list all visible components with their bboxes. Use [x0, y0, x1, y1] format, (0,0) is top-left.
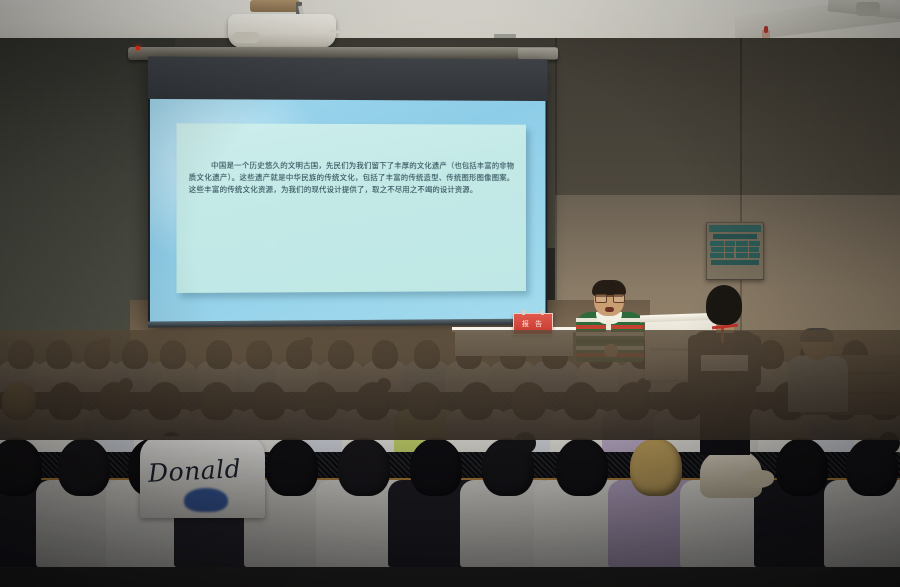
- projection-screen: 中国是一个历史悠久的文明古国，先民们为我们留下了丰厚的文化遗产（也包括丰富的非物…: [148, 56, 548, 327]
- wall-seam: [555, 38, 557, 338]
- glasses-left-lens-icon: [595, 294, 607, 303]
- led-indicator-icon: [136, 46, 140, 50]
- notice-board-cell: [710, 253, 724, 258]
- attendee-head: [410, 438, 462, 496]
- notice-board-cell: [736, 241, 748, 246]
- attendee-white-tshirt: Donald: [140, 436, 265, 518]
- notice-board-cell: [736, 247, 748, 252]
- attendee-cap-brim: [742, 470, 774, 488]
- notice-board-grid: [709, 241, 761, 258]
- notice-board-cell: [749, 241, 760, 246]
- notice-board-footer-panel: [711, 260, 759, 265]
- notice-board-cell: [749, 247, 759, 252]
- slide-content-box: 中国是一个历史悠久的文明古国，先民们为我们留下了丰厚的文化遗产（也包括丰富的非物…: [177, 123, 526, 293]
- sign-leg-right: [541, 310, 544, 315]
- notice-board-cell: [710, 241, 724, 246]
- notice-board-subtitle-panel: [713, 234, 758, 239]
- projector-lens: [233, 32, 259, 43]
- projector-logo: [494, 34, 516, 38]
- attendee-head: [338, 438, 390, 496]
- presenter-mouth: [605, 307, 614, 312]
- tshirt-graphic-text: Donald: [147, 453, 258, 488]
- glasses-right-lens-icon: [613, 294, 625, 303]
- notice-board-title-panel: [709, 225, 761, 232]
- screen-roller-end-cap: [518, 48, 558, 59]
- notice-board-cell: [725, 241, 735, 246]
- slide-body-text: 中国是一个历史悠久的文明古国，先民们为我们留下了丰厚的文化遗产（也包括丰富的非物…: [189, 160, 514, 197]
- projected-slide: 中国是一个历史悠久的文明古国，先民们为我们留下了丰厚的文化遗产（也包括丰富的非物…: [150, 99, 546, 324]
- sign-leg-left: [522, 310, 525, 315]
- stage-floor-shadow: [0, 330, 900, 440]
- attendee-head: [266, 438, 318, 496]
- attendee-head: [556, 438, 608, 496]
- notice-board-cell: [725, 247, 734, 252]
- lecture-hall-photo: 中国是一个历史悠久的文明古国，先民们为我们留下了丰厚的文化遗产（也包括丰富的非物…: [0, 0, 900, 587]
- attendee-head: [58, 438, 110, 496]
- attendee-head: [630, 438, 682, 496]
- wall-notice-board[interactable]: [706, 222, 764, 280]
- projector-mount: [250, 0, 300, 12]
- attendee-head: [776, 438, 828, 496]
- fire-sprinkler-bulb-icon: [764, 26, 768, 33]
- notice-board-cell: [736, 253, 748, 258]
- tshirt-blue-graphic: [184, 488, 228, 512]
- notice-board-cell: [725, 253, 734, 258]
- screen-top-masking: [148, 56, 548, 101]
- desk-sign-text: 报 告: [522, 319, 544, 329]
- ceiling-fan-hub: [856, 2, 880, 16]
- notice-board-cell: [711, 247, 724, 252]
- standing-attendee-head: [706, 285, 742, 325]
- notice-board-cell: [749, 253, 760, 258]
